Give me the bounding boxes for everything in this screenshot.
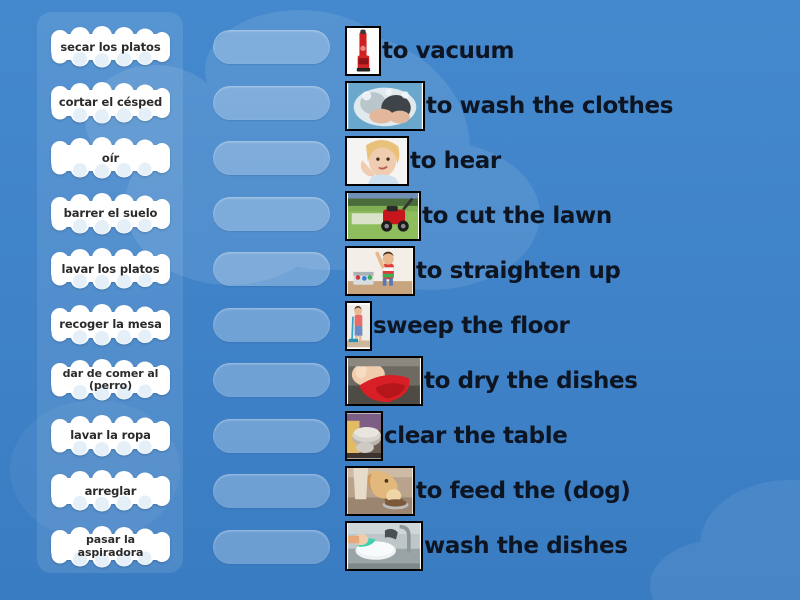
answer-label: to hear — [410, 148, 501, 174]
lawn-mower-image — [345, 191, 421, 241]
clearing-plates-image — [345, 411, 383, 461]
answer-row[interactable]: to feed the (dog) — [345, 465, 795, 518]
drop-slot[interactable] — [213, 308, 330, 342]
term-card-label: arreglar — [85, 485, 137, 498]
middle-column-drop-slots — [213, 30, 330, 564]
term-card[interactable]: arreglar — [44, 474, 177, 508]
term-card[interactable]: barrer el suelo — [44, 197, 177, 231]
answer-label: to wash the clothes — [426, 93, 673, 119]
drying-dishes-towel-image — [345, 356, 423, 406]
drop-slot[interactable] — [213, 363, 330, 397]
drop-slot[interactable] — [213, 30, 330, 64]
woman-listening-image — [345, 136, 409, 186]
term-card-label: dar de comer al (perro) — [53, 368, 168, 393]
answer-row[interactable]: to straighten up — [345, 245, 795, 298]
drop-slot[interactable] — [213, 197, 330, 231]
drop-slot[interactable] — [213, 419, 330, 453]
child-sweeping-image — [345, 301, 372, 351]
answer-label: to vacuum — [382, 38, 514, 64]
term-card-label: lavar la ropa — [70, 429, 151, 442]
right-column: to vacuum to wash the clothes — [345, 25, 795, 573]
dog-eating-image — [345, 466, 415, 516]
answer-label: sweep the floor — [373, 313, 569, 339]
answer-label: to feed the (dog) — [416, 478, 630, 504]
answer-label: to straighten up — [416, 258, 621, 284]
term-card-label: recoger la mesa — [59, 318, 162, 331]
answer-row[interactable]: wash the dishes — [345, 520, 795, 573]
answer-row[interactable]: sweep the floor — [345, 300, 795, 353]
answer-label: wash the dishes — [424, 533, 628, 559]
answer-row[interactable]: to hear — [345, 135, 795, 188]
drop-slot[interactable] — [213, 86, 330, 120]
answer-label: to dry the dishes — [424, 368, 638, 394]
vacuum-cleaner-image — [345, 26, 381, 76]
washing-dishes-sink-image — [345, 521, 423, 571]
answer-row[interactable]: to dry the dishes — [345, 355, 795, 408]
child-tidying-toys-image — [345, 246, 415, 296]
match-up-stage: secar los platos cortar el césped — [0, 0, 800, 600]
term-card[interactable]: lavar la ropa — [44, 419, 177, 453]
washing-clothes-image — [345, 81, 425, 131]
term-card[interactable]: lavar los platos — [44, 252, 177, 286]
term-card-label: secar los platos — [60, 41, 160, 54]
term-card[interactable]: oír — [44, 141, 177, 175]
drop-slot[interactable] — [213, 530, 330, 564]
answer-row[interactable]: clear the table — [345, 410, 795, 463]
answer-row[interactable]: to cut the lawn — [345, 190, 795, 243]
term-card-label: lavar los platos — [62, 263, 160, 276]
term-card[interactable]: secar los platos — [44, 30, 177, 64]
answer-row[interactable]: to wash the clothes — [345, 80, 795, 133]
term-card-label: barrer el suelo — [64, 207, 158, 220]
term-card[interactable]: recoger la mesa — [44, 308, 177, 342]
answer-label: clear the table — [384, 423, 567, 449]
term-card[interactable]: pasar la aspiradora — [44, 530, 177, 564]
left-column: secar los platos cortar el césped — [44, 30, 177, 564]
term-card-label: cortar el césped — [59, 96, 162, 109]
answer-row[interactable]: to vacuum — [345, 25, 795, 78]
drop-slot[interactable] — [213, 474, 330, 508]
answer-label: to cut the lawn — [422, 203, 612, 229]
term-card[interactable]: dar de comer al (perro) — [44, 363, 177, 397]
term-card-label: pasar la aspiradora — [53, 534, 168, 559]
drop-slot[interactable] — [213, 141, 330, 175]
drop-slot[interactable] — [213, 252, 330, 286]
term-card[interactable]: cortar el césped — [44, 86, 177, 120]
term-card-label: oír — [102, 152, 119, 165]
